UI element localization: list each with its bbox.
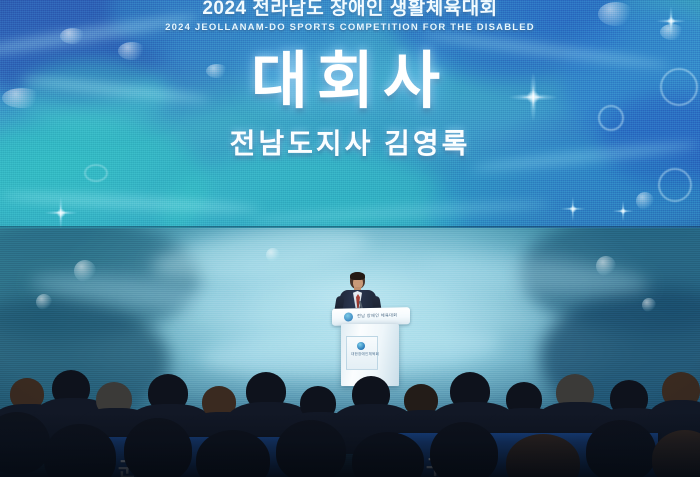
slide-text-block: 2024 전라남도 장애인 생활체육대회 2024 JEOLLANAM-DO S… xyxy=(0,0,700,161)
sparkle-icon xyxy=(508,72,558,122)
decorative-blob xyxy=(20,60,170,130)
decorative-blob xyxy=(430,140,700,228)
slide-subtitle: 전남도지사 김영록 xyxy=(0,127,700,161)
photo-moire-overlay xyxy=(0,228,700,477)
ring-icon xyxy=(598,105,624,131)
decorative-streak xyxy=(20,74,210,105)
backdrop-wave xyxy=(148,228,372,289)
decorative-blob xyxy=(0,120,210,228)
ring-icon xyxy=(84,164,108,182)
slide-header-korean: 2024 전라남도 장애인 생활체육대회 xyxy=(0,0,700,20)
bubble-icon xyxy=(660,24,684,40)
bubble-icon xyxy=(266,248,280,262)
ring-icon xyxy=(658,168,692,202)
decorative-streak xyxy=(0,189,260,216)
decorative-streak xyxy=(470,138,700,175)
stage-backdrop-screen xyxy=(120,228,590,378)
slide-title: 대회사 xyxy=(0,47,700,117)
led-screen-photo: 2024 전라남도 장애인 생활체육대회 2024 JEOLLANAM-DO S… xyxy=(0,0,700,228)
hall-photo xyxy=(0,228,700,477)
bubble-icon xyxy=(2,88,42,108)
sparkle-icon xyxy=(44,196,78,228)
backdrop-wave xyxy=(0,228,200,338)
sparkle-icon xyxy=(560,196,586,222)
sparkle-icon xyxy=(612,200,634,222)
decorative-streak xyxy=(420,29,670,71)
bubble-icon xyxy=(642,298,656,312)
decorative-streak xyxy=(0,10,200,60)
backdrop-wave xyxy=(419,248,651,302)
decorative-blob xyxy=(390,0,620,79)
decorative-blob xyxy=(560,10,700,150)
backdrop-wave xyxy=(540,288,700,428)
bubble-icon xyxy=(598,2,634,26)
decorative-blob xyxy=(0,0,170,100)
decorative-blob xyxy=(160,150,460,228)
decorative-blob xyxy=(600,95,700,185)
decorative-streak xyxy=(250,198,550,226)
ring-icon xyxy=(660,68,698,106)
bubble-icon xyxy=(206,64,228,78)
bubble-icon xyxy=(74,260,96,282)
vignette-overlay xyxy=(0,0,700,228)
led-moire-overlay xyxy=(0,0,700,228)
bubble-icon xyxy=(118,42,146,60)
sparkle-icon xyxy=(656,6,686,36)
bubble-icon xyxy=(596,256,616,276)
bubble-icon xyxy=(60,28,86,44)
bubble-icon xyxy=(636,192,654,210)
bubble-icon xyxy=(36,294,52,310)
screenshot-canvas: 2024 전라남도 장애인 생활체육대회 2024 JEOLLANAM-DO S… xyxy=(0,0,700,477)
backdrop-wave xyxy=(199,320,501,382)
backdrop-wave xyxy=(0,298,170,428)
backdrop-wave xyxy=(520,228,700,332)
backdrop-wave xyxy=(29,268,231,317)
decorative-blob xyxy=(110,0,350,70)
slide-header-english: 2024 JEOLLANAM-DO SPORTS COMPETITION FOR… xyxy=(0,22,700,33)
